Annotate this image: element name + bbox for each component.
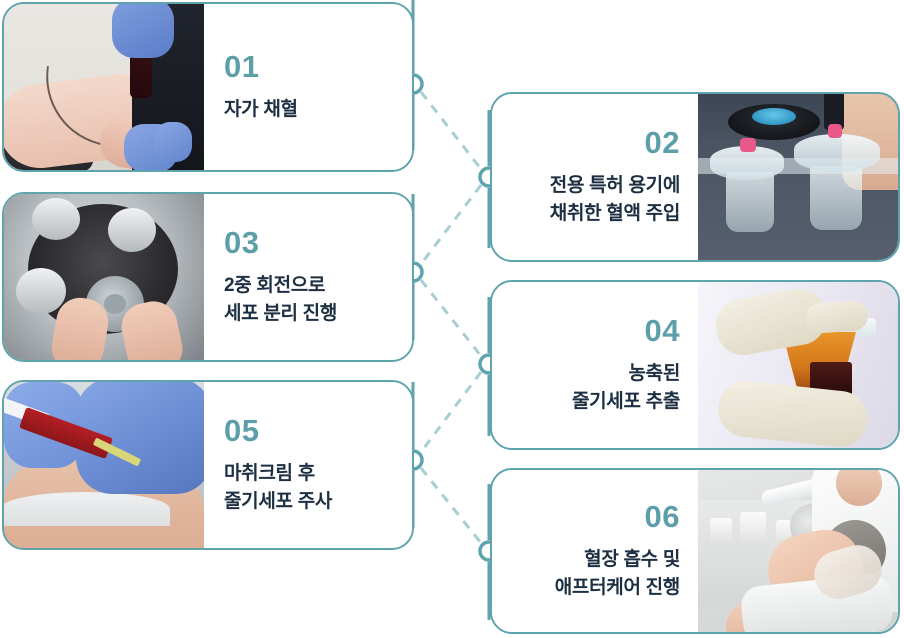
step-label-05: 마취크림 후 줄기세포 주사 — [224, 460, 332, 515]
dash-04-to-05 — [421, 372, 481, 452]
step-text-03: 03 2중 회전으로 세포 분리 진행 — [204, 194, 412, 360]
step-number-06: 06 — [645, 501, 680, 532]
step-text-05: 05 마취크림 후 줄기세포 주사 — [204, 382, 412, 548]
patented-containers-photo — [698, 94, 898, 260]
step-card-01[interactable]: 01 자가 채혈 — [2, 2, 414, 172]
dash-01-to-02 — [421, 92, 481, 169]
step-card-04[interactable]: 04 농축된 줄기세포 추출 — [490, 280, 900, 450]
step-card-06[interactable]: 06 혈장 흡수 및 애프터케어 진행 — [490, 468, 900, 634]
blood-draw-from-arm-photo — [4, 4, 204, 170]
step-card-02[interactable]: 02 전용 특허 용기에 채취한 혈액 주입 — [490, 92, 900, 262]
dash-03-to-04 — [421, 280, 481, 356]
aftercare-facial-photo — [698, 470, 898, 632]
step-card-03[interactable]: 03 2중 회전으로 세포 분리 진행 — [2, 192, 414, 362]
step-text-06: 06 혈장 흡수 및 애프터케어 진행 — [492, 470, 698, 632]
step-text-02: 02 전용 특허 용기에 채취한 혈액 주입 — [492, 94, 698, 260]
step-text-04: 04 농축된 줄기세포 추출 — [492, 282, 698, 448]
step-text-01: 01 자가 채혈 — [204, 4, 412, 170]
process-flow-diagram: 01 자가 채혈 02 전용 특허 용기에 채취한 혈액 주입 — [0, 0, 904, 638]
step-number-05: 05 — [224, 415, 259, 446]
dash-05-to-06 — [421, 468, 481, 543]
gloved-hands-vessel-photo — [698, 282, 898, 448]
dash-02-to-03 — [421, 185, 481, 264]
step-label-03: 2중 회전으로 세포 분리 진행 — [224, 272, 337, 327]
step-number-02: 02 — [645, 127, 680, 158]
step-label-02: 전용 특허 용기에 채취한 혈액 주입 — [550, 172, 680, 227]
centrifuge-rotor-photo — [4, 194, 204, 360]
step-number-01: 01 — [224, 51, 259, 82]
step-card-05[interactable]: 05 마취크림 후 줄기세포 주사 — [2, 380, 414, 550]
step-number-04: 04 — [645, 315, 680, 346]
step-label-01: 자가 채혈 — [224, 96, 298, 124]
stem-cell-injection-photo — [4, 382, 204, 548]
step-label-06: 혈장 흡수 및 애프터케어 진행 — [555, 546, 680, 601]
step-label-04: 농축된 줄기세포 추출 — [572, 360, 680, 415]
step-number-03: 03 — [224, 227, 259, 258]
